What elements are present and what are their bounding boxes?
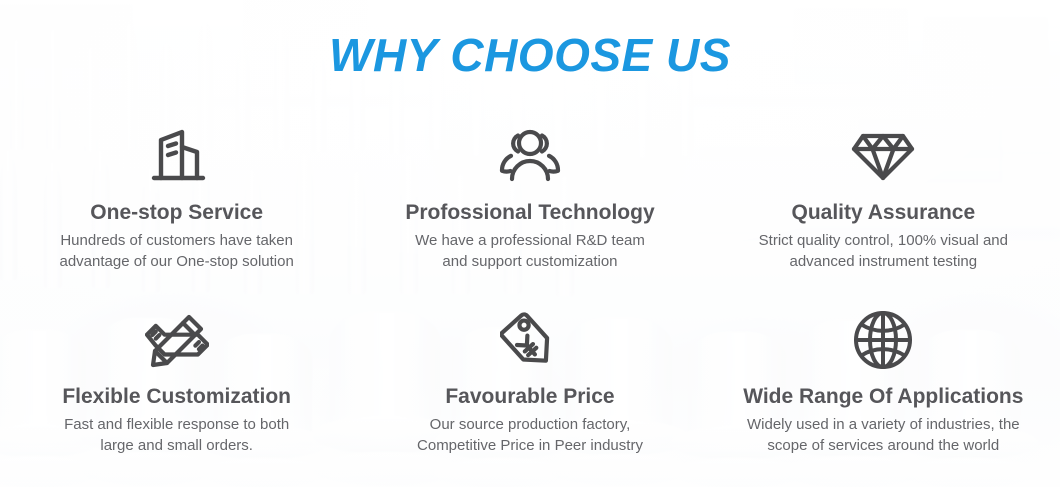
feature-title: Favourable Price (445, 384, 614, 410)
feature-description-line: Hundreds of customers have taken (60, 230, 294, 251)
pencil-ruler-cross-icon (145, 302, 209, 378)
feature-card-quality-assurance: Quality Assurance Strict quality control… (707, 118, 1060, 302)
feature-grid: One-stop Service Hundreds of customers h… (0, 118, 1060, 486)
feature-title: One-stop Service (90, 200, 263, 226)
feature-description-line: advantage of our One-stop solution (60, 251, 294, 272)
feature-description-line: Our source production factory, (417, 414, 643, 435)
feature-title: Flexible Customization (62, 384, 291, 410)
diamond-icon (850, 118, 916, 194)
feature-description: Hundreds of customers have taken advanta… (60, 230, 294, 272)
feature-description-line: and support customization (415, 251, 645, 272)
globe-icon (852, 302, 914, 378)
users-group-icon (498, 118, 562, 194)
banner-content: WHY CHOOSE US One-stop Service Hundreds … (0, 0, 1060, 487)
why-choose-us-banner: WHY CHOOSE US One-stop Service Hundreds … (0, 0, 1060, 487)
feature-description: Our source production factory, Competiti… (417, 414, 643, 456)
feature-description: Fast and flexible response to both large… (64, 414, 289, 456)
page-title: WHY CHOOSE US (0, 26, 1060, 84)
feature-description: Strict quality control, 100% visual and … (759, 230, 1008, 272)
feature-title: Quality Assurance (792, 200, 976, 226)
feature-description-line: Competitive Price in Peer industry (417, 435, 643, 456)
feature-card-professional-technology: Profossional Technology We have a profes… (353, 118, 706, 302)
feature-description-line: large and small orders. (64, 435, 289, 456)
feature-description-line: Widely used in a variety of industries, … (747, 414, 1020, 435)
feature-description-line: Strict quality control, 100% visual and (759, 230, 1008, 251)
feature-description: We have a professional R&D team and supp… (415, 230, 645, 272)
feature-card-one-stop-service: One-stop Service Hundreds of customers h… (0, 118, 353, 302)
price-tag-icon (500, 302, 560, 378)
feature-description: Widely used in a variety of industries, … (747, 414, 1020, 456)
feature-description-line: We have a professional R&D team (415, 230, 645, 251)
feature-title: Wide Range Of Applications (743, 384, 1023, 410)
feature-description-line: Fast and flexible response to both (64, 414, 289, 435)
building-icon (146, 118, 208, 194)
feature-description-line: advanced instrument testing (759, 251, 1008, 272)
feature-description-line: scope of services around the world (747, 435, 1020, 456)
feature-card-flexible-customization: Flexible Customization Fast and flexible… (0, 302, 353, 486)
feature-card-favourable-price: Favourable Price Our source production f… (353, 302, 706, 486)
feature-card-wide-range-of-applications: Wide Range Of Applications Widely used i… (707, 302, 1060, 486)
feature-title: Profossional Technology (405, 200, 654, 226)
